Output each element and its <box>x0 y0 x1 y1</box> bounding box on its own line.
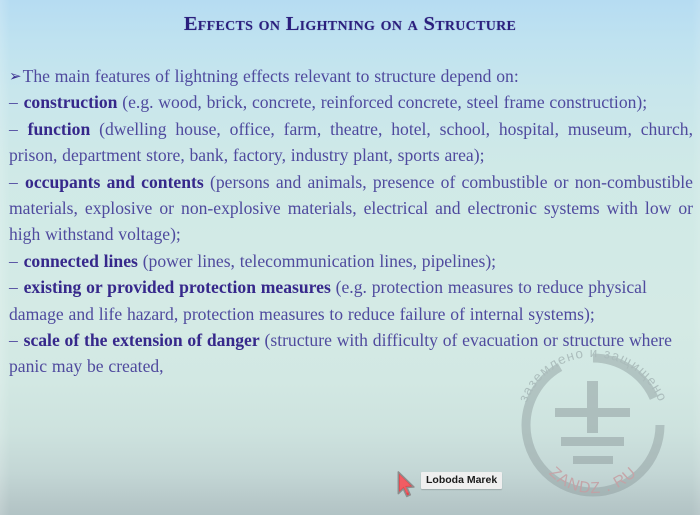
intro-text: The main features of lightning effects r… <box>23 66 519 86</box>
list-item: – connected lines (power lines, telecomm… <box>9 248 693 274</box>
dash-bullet-icon: – <box>9 172 19 192</box>
arrow-bullet-icon: ➢ <box>9 67 22 85</box>
mouse-cursor-icon <box>396 471 418 498</box>
dash-bullet-icon: – <box>9 92 19 112</box>
list-item-term: scale of the extension of danger <box>24 330 260 350</box>
presenter-pointer: Loboda Marek <box>396 470 502 498</box>
presenter-name-tag: Loboda Marek <box>421 472 502 489</box>
list-item-detail: (power lines, telecommunication lines, p… <box>143 251 496 271</box>
list-item-detail: (e.g. wood, brick, concrete, reinforced … <box>122 92 647 112</box>
dash-bullet-icon: – <box>9 251 19 271</box>
list-item-term: occupants and contents <box>25 172 204 192</box>
page-title: Effects on Lightning on a Structure <box>0 13 700 36</box>
dash-bullet-icon: – <box>9 119 19 139</box>
list-item: – function (dwelling house, office, farm… <box>9 116 693 169</box>
earth-ground-icon <box>555 381 630 464</box>
slide-canvas: Effects on Lightning on a Structure ➢The… <box>0 0 700 515</box>
dash-bullet-icon: – <box>9 330 19 350</box>
list-item: – construction (e.g. wood, brick, concre… <box>9 89 693 115</box>
list-item-term: construction <box>24 92 118 112</box>
list-item: – scale of the extension of danger (stru… <box>9 327 693 380</box>
slide-body: ➢The main features of lightning effects … <box>9 63 693 380</box>
list-item-term: function <box>28 119 91 139</box>
list-item: – occupants and contents (persons and an… <box>9 169 693 248</box>
dash-bullet-icon: – <box>9 277 19 297</box>
list-item-detail: (dwelling house, office, farm, theatre, … <box>9 119 693 165</box>
watermark-brand: ZANDZ . RU <box>546 464 641 497</box>
list-item-term: connected lines <box>24 251 138 271</box>
list-item: – existing or provided protection measur… <box>9 274 693 327</box>
list-item-term: existing or provided protection measures <box>24 277 331 297</box>
intro-line: ➢The main features of lightning effects … <box>9 63 693 89</box>
